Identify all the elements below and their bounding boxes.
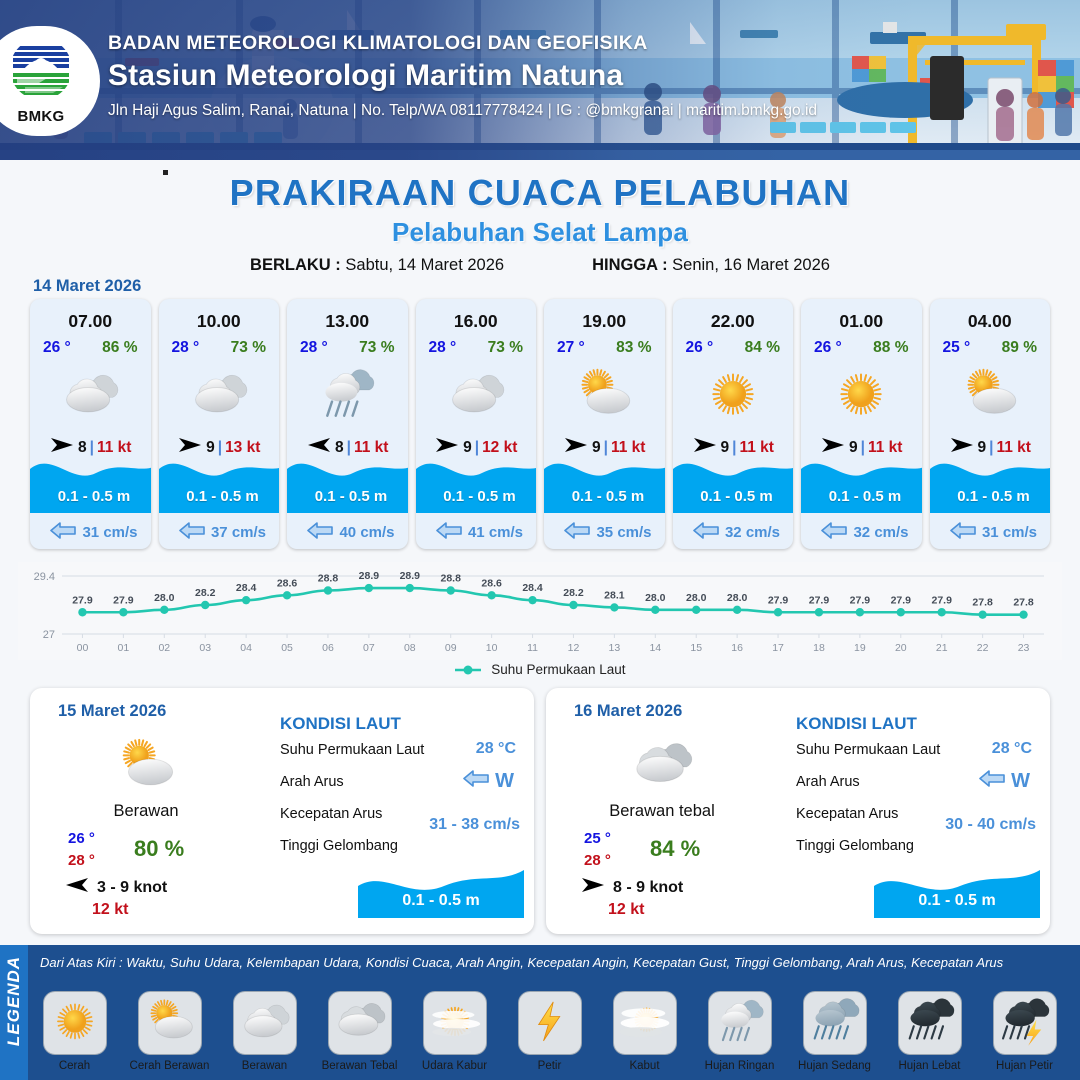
svg-text:28.2: 28.2	[195, 587, 216, 599]
svg-text:27.8: 27.8	[972, 597, 993, 609]
card-humidity: 89 %	[1002, 339, 1037, 357]
card-wave-height: 0.1 - 0.5 m	[159, 488, 280, 505]
svg-text:01: 01	[118, 642, 130, 654]
card-current-row: 32 cm/s	[673, 522, 794, 543]
card-values: 26 ° 84 %	[673, 339, 794, 357]
legend-icon-hujan-petir	[993, 991, 1057, 1055]
card-weather-icon-berawan	[30, 365, 151, 427]
current-direction-arrow-icon	[821, 522, 847, 543]
legend-line-marker-icon	[454, 664, 482, 676]
card-values: 25 ° 89 %	[930, 339, 1051, 357]
svg-text:29.4: 29.4	[34, 571, 55, 583]
page-subtitle: Pelabuhan Selat Lampa	[0, 217, 1080, 248]
sea-value-current-direction: W	[979, 770, 1030, 793]
hourly-card: 13.00 28 ° 73 % 8 | 11 kt 0.1 - 0.5 m 40…	[287, 299, 408, 549]
card-temperature: 27 °	[557, 339, 585, 357]
title-block: PRAKIRAAN CUACA PELABUHAN Pelabuhan Sela…	[0, 172, 1080, 248]
card-current-row: 37 cm/s	[159, 522, 280, 543]
daily-temp-min: 26 °	[68, 828, 95, 850]
agency-name: BADAN METEOROLOGI KLIMATOLOGI DAN GEOFIS…	[108, 32, 817, 55]
hourly-card: 04.00 25 ° 89 % 9 | 11 kt 0.1 - 0.5 m 31…	[930, 299, 1051, 549]
bmkg-logo-text: BMKG	[3, 108, 79, 125]
svg-text:27.9: 27.9	[850, 594, 871, 606]
card-wave-band: 0.1 - 0.5 m	[930, 451, 1051, 513]
svg-text:27.9: 27.9	[113, 594, 134, 606]
legend-item-label: Udara Kabur	[422, 1060, 487, 1072]
sea-value-sst: 28 °C	[992, 740, 1032, 758]
sea-value-current-speed: 30 - 40 cm/s	[945, 816, 1036, 834]
svg-text:21: 21	[936, 642, 948, 654]
current-direction-arrow-icon	[979, 770, 1005, 793]
daily-condition: Berawan tebal	[546, 802, 778, 821]
daily-temps: 26 ° 28 °	[68, 828, 95, 872]
card-wave-band: 0.1 - 0.5 m	[544, 451, 665, 513]
svg-text:16: 16	[731, 642, 743, 654]
daily-gust: 12 kt	[92, 901, 128, 919]
legend-icon-cerah	[43, 991, 107, 1055]
hourly-card: 10.00 28 ° 73 % 9 | 13 kt 0.1 - 0.5 m 37…	[159, 299, 280, 549]
valid-until-value: Senin, 16 Maret 2026	[672, 256, 830, 274]
daily-weather-icon-berawan-tebal	[608, 736, 716, 798]
card-values: 26 ° 86 %	[30, 339, 151, 357]
svg-text:20: 20	[895, 642, 907, 654]
svg-text:10: 10	[486, 642, 498, 654]
legend-side-label: LEGENDA	[4, 940, 24, 1062]
header-banner: BMKG BADAN METEOROLOGI KLIMATOLOGI DAN G…	[0, 0, 1080, 160]
sea-label-wave: Tinggi Gelombang	[796, 838, 1040, 854]
sea-wave-height: 0.1 - 0.5 m	[358, 892, 524, 910]
legend-item-label: Hujan Sedang	[798, 1060, 871, 1072]
svg-text:07: 07	[363, 642, 375, 654]
card-humidity: 86 %	[102, 339, 137, 357]
card-time: 10.00	[159, 311, 280, 332]
legend-item-label: Hujan Lebat	[898, 1060, 960, 1072]
sea-wave-band: 0.1 - 0.5 m	[874, 864, 1040, 918]
card-current-row: 31 cm/s	[30, 522, 151, 543]
hourly-date-label: 14 Maret 2026	[33, 277, 141, 296]
hourly-card: 07.00 26 ° 86 % 8 | 11 kt 0.1 - 0.5 m 31…	[30, 299, 151, 549]
svg-text:28.4: 28.4	[522, 582, 543, 594]
valid-from-value: Sabtu, 14 Maret 2026	[345, 256, 504, 274]
legend-icon-berawan-tebal	[328, 991, 392, 1055]
svg-text:22: 22	[977, 642, 989, 654]
svg-text:18: 18	[813, 642, 825, 654]
card-wave-height: 0.1 - 0.5 m	[416, 488, 537, 505]
legend-item: Cerah	[30, 991, 119, 1072]
card-values: 27 ° 83 %	[544, 339, 665, 357]
svg-text:28.8: 28.8	[318, 573, 339, 585]
current-direction-arrow-icon	[50, 522, 76, 543]
card-wave-height: 0.1 - 0.5 m	[287, 488, 408, 505]
daily-humidity: 80 %	[134, 836, 184, 862]
card-time: 22.00	[673, 311, 794, 332]
card-wave-band: 0.1 - 0.5 m	[416, 451, 537, 513]
daily-forecast-panel: 16 Maret 2026 Berawan tebal 25 ° 28 ° 84…	[546, 688, 1050, 934]
card-wave-height: 0.1 - 0.5 m	[801, 488, 922, 505]
daily-humidity: 84 %	[650, 836, 700, 862]
svg-text:04: 04	[240, 642, 252, 654]
card-time: 19.00	[544, 311, 665, 332]
legend-item-label: Hujan Petir	[996, 1060, 1053, 1072]
sea-wave-height: 0.1 - 0.5 m	[874, 892, 1040, 910]
current-direction-letter: W	[1011, 770, 1030, 793]
legend-icon-hujan-lebat	[898, 991, 962, 1055]
sea-value-current-speed: 31 - 38 cm/s	[429, 816, 520, 834]
hourly-card: 01.00 26 ° 88 % 9 | 11 kt 0.1 - 0.5 m 32…	[801, 299, 922, 549]
validity-row: BERLAKU : Sabtu, 14 Maret 2026 HINGGA : …	[0, 256, 1080, 275]
valid-until-label: HINGGA :	[592, 256, 667, 274]
svg-text:23: 23	[1018, 642, 1030, 654]
sea-value-current-direction: W	[463, 770, 514, 793]
daily-weather-icon-cerah-berawan	[92, 736, 200, 798]
svg-text:13: 13	[609, 642, 621, 654]
legend-item-label: Hujan Ringan	[705, 1060, 775, 1072]
svg-text:28.0: 28.0	[645, 592, 666, 604]
card-weather-icon-berawan	[159, 365, 280, 427]
daily-wind-row: 3 - 9 knot	[64, 876, 167, 899]
valid-until: HINGGA : Senin, 16 Maret 2026	[592, 256, 830, 275]
svg-text:28.9: 28.9	[359, 570, 380, 582]
legend-icon-hujan-sedang	[803, 991, 867, 1055]
sea-condition-labels: Suhu Permukaan Laut Arah Arus Kecepatan …	[796, 742, 1040, 854]
card-weather-icon-cerah-berawan	[930, 365, 1051, 427]
daily-temp-max: 28 °	[584, 850, 611, 872]
svg-text:19: 19	[854, 642, 866, 654]
legend-item-label: Kabut	[629, 1060, 659, 1072]
legend-icon-cerah-berawan	[138, 991, 202, 1055]
card-time: 07.00	[30, 311, 151, 332]
card-wave-band: 0.1 - 0.5 m	[673, 451, 794, 513]
card-values: 26 ° 88 %	[801, 339, 922, 357]
svg-text:09: 09	[445, 642, 457, 654]
svg-text:27.9: 27.9	[891, 594, 912, 606]
legend-item-label: Berawan	[242, 1060, 287, 1072]
legend-item: Berawan	[220, 991, 309, 1072]
daily-wind-speed: 8 - 9 knot	[613, 879, 683, 897]
card-current-row: 41 cm/s	[416, 522, 537, 543]
card-current-row: 40 cm/s	[287, 522, 408, 543]
legend-series-label: Suhu Permukaan Laut	[491, 662, 625, 677]
card-time: 04.00	[930, 311, 1051, 332]
card-current-speed: 41 cm/s	[468, 524, 523, 541]
valid-from-label: BERLAKU :	[250, 256, 341, 274]
hourly-card: 19.00 27 ° 83 % 9 | 11 kt 0.1 - 0.5 m 35…	[544, 299, 665, 549]
card-weather-icon-cerah	[673, 365, 794, 427]
card-current-speed: 35 cm/s	[596, 524, 651, 541]
svg-text:28.9: 28.9	[400, 570, 421, 582]
legend-item-label: Cerah Berawan	[130, 1060, 210, 1072]
legend-icon-hujan-ringan	[708, 991, 772, 1055]
svg-text:27.9: 27.9	[72, 594, 93, 606]
card-humidity: 73 %	[231, 339, 266, 357]
card-wave-band: 0.1 - 0.5 m	[801, 451, 922, 513]
legend-item: Cerah Berawan	[125, 991, 214, 1072]
card-temperature: 28 °	[429, 339, 457, 357]
svg-text:27.8: 27.8	[1013, 597, 1034, 609]
sea-wave-band: 0.1 - 0.5 m	[358, 864, 524, 918]
sst-chart: 29.4270001020304050607080910111213141516…	[18, 562, 1062, 660]
svg-text:03: 03	[199, 642, 211, 654]
card-weather-icon-cerah	[801, 365, 922, 427]
svg-text:28.2: 28.2	[563, 587, 584, 599]
card-current-speed: 37 cm/s	[211, 524, 266, 541]
current-direction-arrow-icon	[693, 522, 719, 543]
legend-item: Petir	[505, 991, 594, 1072]
card-time: 16.00	[416, 311, 537, 332]
daily-date: 15 Maret 2026	[58, 702, 166, 721]
svg-text:28.6: 28.6	[277, 577, 298, 589]
card-humidity: 73 %	[359, 339, 394, 357]
bmkg-emblem-icon	[9, 37, 73, 101]
svg-text:28.6: 28.6	[481, 577, 502, 589]
card-temperature: 28 °	[172, 339, 200, 357]
svg-text:28.0: 28.0	[727, 592, 748, 604]
daily-forecast-panel: 15 Maret 2026 Berawan 26 ° 28 ° 80 % 3 -…	[30, 688, 534, 934]
card-temperature: 26 °	[686, 339, 714, 357]
hourly-forecast-cards: 07.00 26 ° 86 % 8 | 11 kt 0.1 - 0.5 m 31…	[30, 299, 1050, 549]
card-weather-icon-berawan	[416, 365, 537, 427]
sst-chart-svg: 29.4270001020304050607080910111213141516…	[18, 562, 1062, 660]
card-weather-icon-hujan-ringan	[287, 365, 408, 427]
legend-icon-list: Cerah Cerah Berawan Berawan Berawan Teba…	[30, 991, 1074, 1072]
svg-text:14: 14	[649, 642, 661, 654]
legend-item: Hujan Lebat	[885, 991, 974, 1072]
card-temperature: 26 °	[43, 339, 71, 357]
svg-text:11: 11	[527, 642, 538, 654]
card-time: 01.00	[801, 311, 922, 332]
legend-item: Hujan Petir	[980, 991, 1069, 1072]
svg-text:17: 17	[772, 642, 784, 654]
card-current-speed: 32 cm/s	[725, 524, 780, 541]
card-wave-band: 0.1 - 0.5 m	[159, 451, 280, 513]
sea-value-sst: 28 °C	[476, 740, 516, 758]
daily-wind-speed: 3 - 9 knot	[97, 879, 167, 897]
card-humidity: 88 %	[873, 339, 908, 357]
daily-gust: 12 kt	[608, 901, 644, 919]
card-humidity: 84 %	[745, 339, 780, 357]
legend-item-label: Cerah	[59, 1060, 90, 1072]
current-direction-arrow-icon	[307, 522, 333, 543]
card-current-speed: 40 cm/s	[339, 524, 394, 541]
card-current-row: 32 cm/s	[801, 522, 922, 543]
daily-temps: 25 ° 28 °	[584, 828, 611, 872]
card-current-speed: 32 cm/s	[853, 524, 908, 541]
hourly-card: 16.00 28 ° 73 % 9 | 12 kt 0.1 - 0.5 m 41…	[416, 299, 537, 549]
sea-condition-labels: Suhu Permukaan Laut Arah Arus Kecepatan …	[280, 742, 524, 854]
current-direction-arrow-icon	[463, 770, 489, 793]
svg-text:27: 27	[43, 629, 55, 641]
wind-direction-arrow-icon	[580, 876, 606, 899]
svg-text:15: 15	[690, 642, 702, 654]
current-direction-arrow-icon	[179, 522, 205, 543]
legend-icon-berawan	[233, 991, 297, 1055]
svg-text:12: 12	[568, 642, 580, 654]
header-text-block: BADAN METEOROLOGI KLIMATOLOGI DAN GEOFIS…	[108, 32, 817, 120]
page-title: PRAKIRAAN CUACA PELABUHAN	[0, 172, 1080, 214]
sea-condition-title: KONDISI LAUT	[796, 714, 917, 734]
station-name: Stasiun Meteorologi Maritim Natuna	[108, 59, 817, 93]
card-current-row: 31 cm/s	[930, 522, 1051, 543]
wind-direction-arrow-icon	[64, 876, 90, 899]
svg-text:28.8: 28.8	[440, 573, 461, 585]
daily-wind-row: 8 - 9 knot	[580, 876, 683, 899]
daily-forecast-panels: 15 Maret 2026 Berawan 26 ° 28 ° 80 % 3 -…	[30, 688, 1050, 934]
current-direction-arrow-icon	[436, 522, 462, 543]
card-wave-height: 0.1 - 0.5 m	[30, 488, 151, 505]
card-values: 28 ° 73 %	[287, 339, 408, 357]
legend-item-label: Petir	[538, 1060, 562, 1072]
svg-text:00: 00	[77, 642, 89, 654]
card-temperature: 26 °	[814, 339, 842, 357]
sea-condition-title: KONDISI LAUT	[280, 714, 401, 734]
svg-text:28.4: 28.4	[236, 582, 257, 594]
legend-note: Dari Atas Kiri : Waktu, Suhu Udara, Kele…	[40, 955, 1072, 970]
card-wave-height: 0.1 - 0.5 m	[673, 488, 794, 505]
legend-item: Berawan Tebal	[315, 991, 404, 1072]
svg-text:08: 08	[404, 642, 416, 654]
sst-chart-legend: Suhu Permukaan Laut	[0, 662, 1080, 677]
svg-text:27.9: 27.9	[768, 594, 789, 606]
card-values: 28 ° 73 %	[416, 339, 537, 357]
legend-side-tab: LEGENDA	[0, 945, 28, 1080]
hourly-card: 22.00 26 ° 84 % 9 | 11 kt 0.1 - 0.5 m 32…	[673, 299, 794, 549]
daily-temp-min: 25 °	[584, 828, 611, 850]
current-direction-letter: W	[495, 770, 514, 793]
card-current-speed: 31 cm/s	[82, 524, 137, 541]
svg-text:05: 05	[281, 642, 293, 654]
legend-item: Kabut	[600, 991, 689, 1072]
daily-temp-max: 28 °	[68, 850, 95, 872]
svg-text:28.0: 28.0	[686, 592, 707, 604]
legend-item-label: Berawan Tebal	[322, 1060, 398, 1072]
contact-line: Jln Haji Agus Salim, Ranai, Natuna | No.…	[108, 102, 817, 120]
card-current-speed: 31 cm/s	[982, 524, 1037, 541]
svg-text:28.0: 28.0	[154, 592, 175, 604]
legend-item: Udara Kabur	[410, 991, 499, 1072]
card-humidity: 73 %	[488, 339, 523, 357]
card-wave-band: 0.1 - 0.5 m	[287, 451, 408, 513]
legend-icon-udara-kabur	[423, 991, 487, 1055]
card-wave-band: 0.1 - 0.5 m	[30, 451, 151, 513]
svg-text:28.1: 28.1	[604, 589, 625, 601]
current-direction-arrow-icon	[564, 522, 590, 543]
card-time: 13.00	[287, 311, 408, 332]
legend-item: Hujan Ringan	[695, 991, 784, 1072]
card-wave-height: 0.1 - 0.5 m	[544, 488, 665, 505]
svg-text:27.9: 27.9	[809, 594, 830, 606]
sea-label-wave: Tinggi Gelombang	[280, 838, 524, 854]
card-current-row: 35 cm/s	[544, 522, 665, 543]
card-weather-icon-cerah-berawan	[544, 365, 665, 427]
legend-icon-petir	[518, 991, 582, 1055]
card-values: 28 ° 73 %	[159, 339, 280, 357]
card-temperature: 25 °	[943, 339, 971, 357]
legend-item: Hujan Sedang	[790, 991, 879, 1072]
card-temperature: 28 °	[300, 339, 328, 357]
svg-text:06: 06	[322, 642, 334, 654]
daily-condition: Berawan	[30, 802, 262, 821]
svg-text:02: 02	[158, 642, 170, 654]
svg-text:27.9: 27.9	[931, 594, 952, 606]
valid-from: BERLAKU : Sabtu, 14 Maret 2026	[250, 256, 504, 275]
card-humidity: 83 %	[616, 339, 651, 357]
card-wave-height: 0.1 - 0.5 m	[930, 488, 1051, 505]
daily-date: 16 Maret 2026	[574, 702, 682, 721]
legend-icon-kabut	[613, 991, 677, 1055]
current-direction-arrow-icon	[950, 522, 976, 543]
